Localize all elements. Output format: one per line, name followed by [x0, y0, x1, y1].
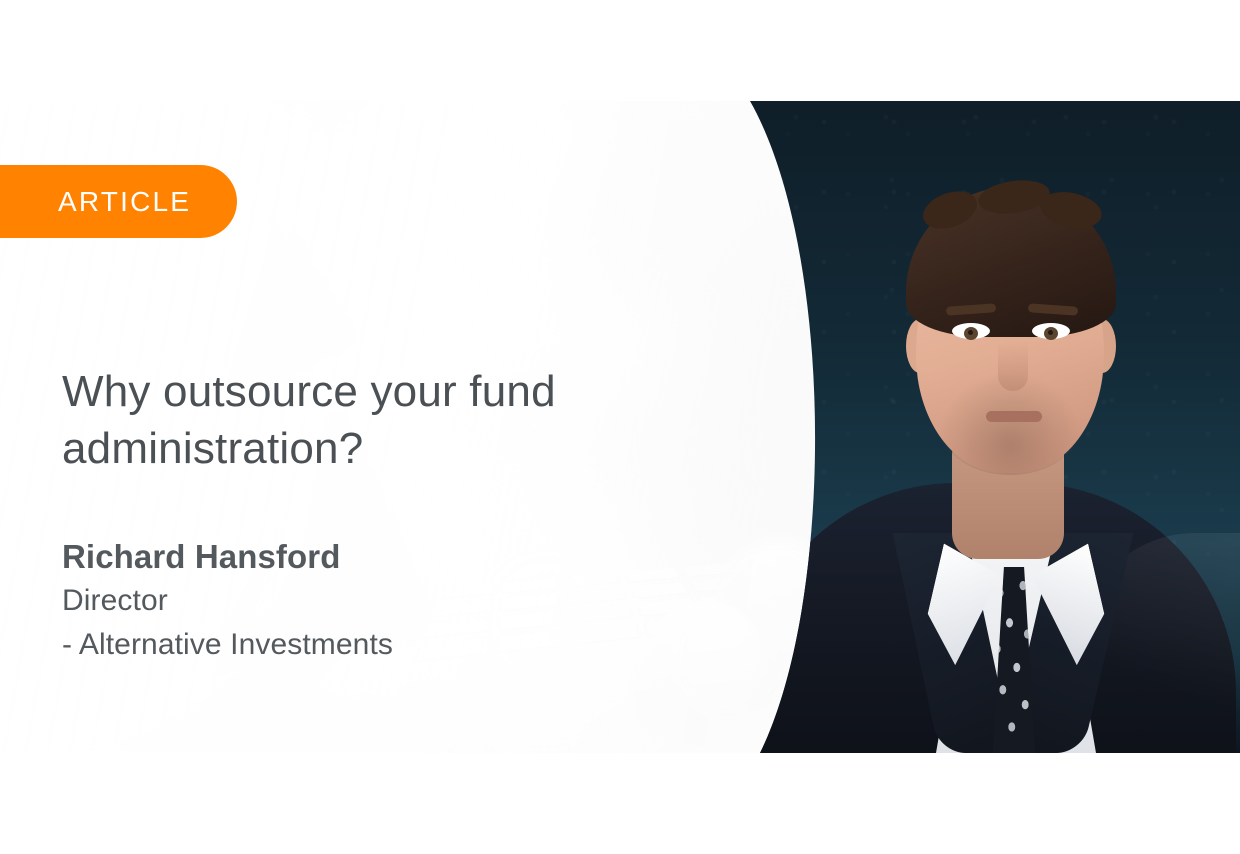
page-title: Why outsource your fund administration? [62, 363, 582, 477]
mouth [986, 411, 1042, 422]
article-badge-label: ARTICLE [58, 188, 191, 216]
eye [1032, 323, 1070, 339]
nose [998, 341, 1028, 391]
eye [952, 323, 990, 339]
author-department: - Alternative Investments [62, 623, 622, 667]
article-badge: ARTICLE [0, 165, 237, 238]
author-name: Richard Hansford [62, 535, 622, 579]
author-title: Director [62, 579, 622, 623]
author-block: Richard Hansford Director - Alternative … [62, 535, 622, 667]
pupil [964, 327, 978, 340]
article-banner: ARTICLE Why outsource your fund administ… [0, 101, 1240, 753]
pupil [1044, 327, 1058, 340]
